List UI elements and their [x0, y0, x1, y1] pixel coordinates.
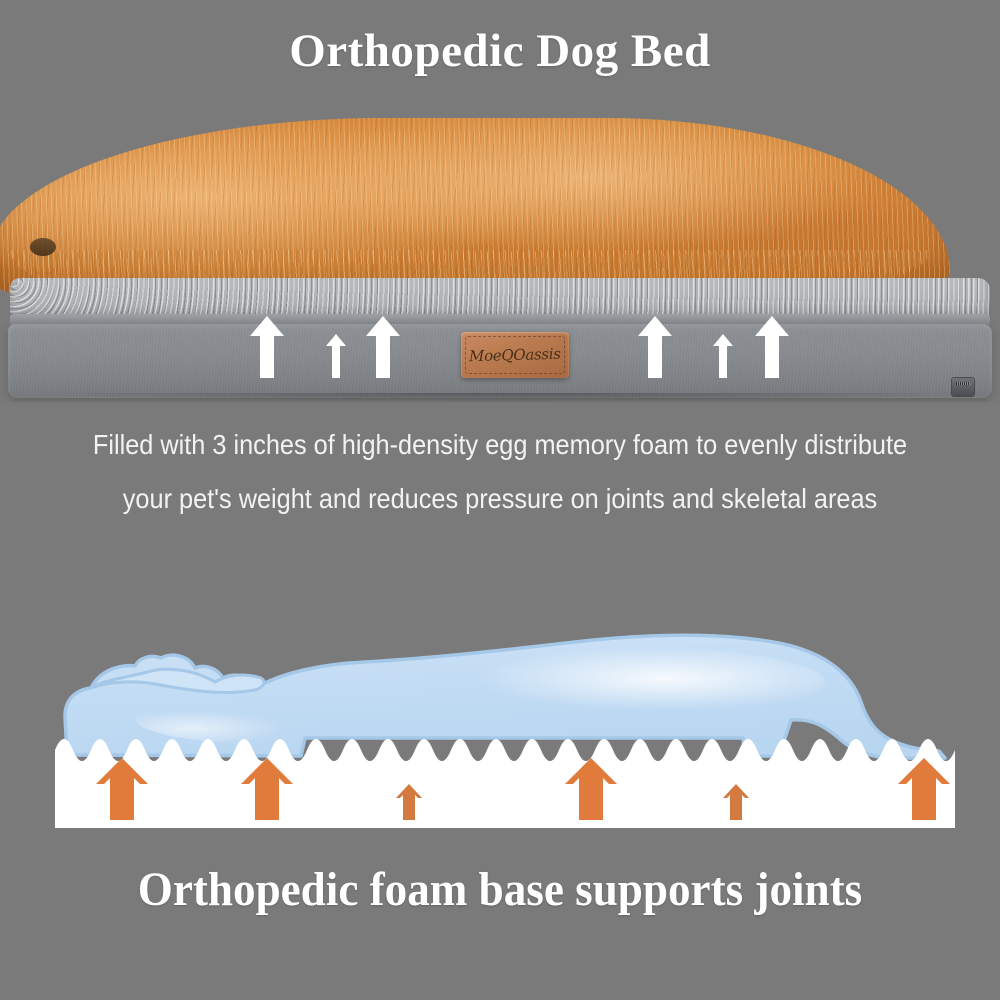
- page-title: Orthopedic Dog Bed: [0, 24, 1000, 78]
- foam-diagram-panel: [0, 600, 1000, 845]
- caption-line-2: your pet's weight and reduces pressure o…: [40, 472, 960, 526]
- support-arrow-white-3: [366, 316, 400, 378]
- dog-nose: [30, 238, 56, 256]
- support-arrow-white-6: [755, 316, 789, 378]
- support-arrow-white-5: [713, 334, 733, 378]
- support-arrow-orange-1: [96, 758, 148, 820]
- feature-caption: Filled with 3 inches of high-density egg…: [40, 418, 960, 526]
- egg-crate-foam-base: [55, 728, 955, 828]
- bed-shadow: [20, 393, 980, 401]
- support-arrow-orange-6: [898, 758, 950, 820]
- infographic-page: Orthopedic Dog Bed MoeQOassis: [0, 0, 1000, 1000]
- support-arrow-orange-5: [723, 784, 749, 820]
- bottom-heading: Orthopedic foam base supports joints: [30, 862, 970, 917]
- brand-patch: MoeQOassis: [461, 332, 569, 378]
- support-arrow-white-1: [250, 316, 284, 378]
- support-arrow-orange-4: [565, 758, 617, 820]
- support-arrow-white-4: [638, 316, 672, 378]
- support-arrow-white-2: [326, 334, 346, 378]
- support-arrow-orange-3: [396, 784, 422, 820]
- support-arrow-orange-2: [241, 758, 293, 820]
- brand-patch-label: MoeQOassis: [469, 345, 561, 365]
- zipper-pull-icon: [952, 378, 974, 396]
- caption-line-1: Filled with 3 inches of high-density egg…: [40, 418, 960, 472]
